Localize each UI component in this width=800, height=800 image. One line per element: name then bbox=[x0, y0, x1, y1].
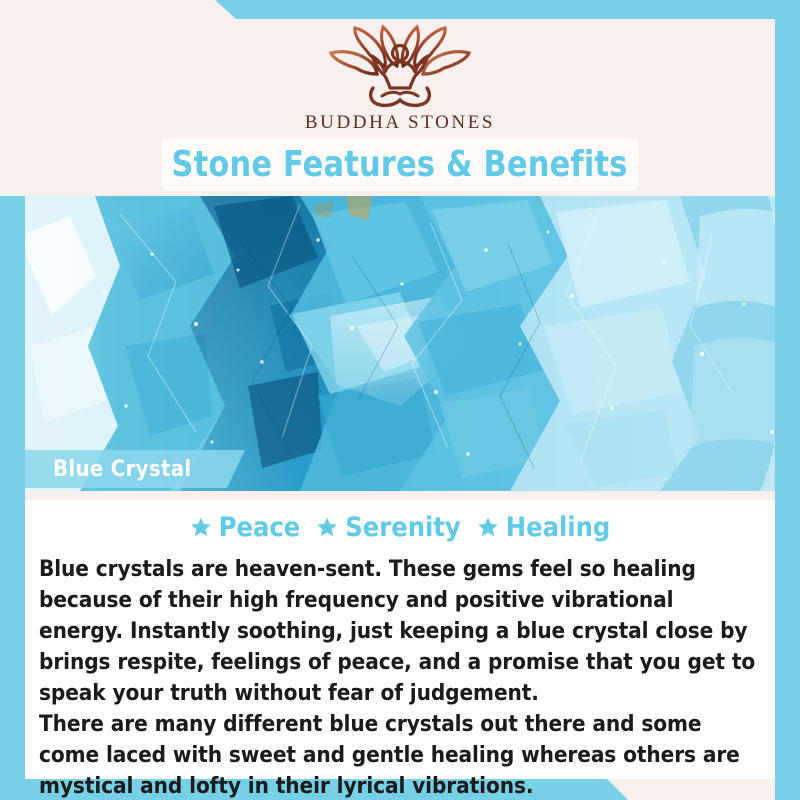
keyword-label: Peace bbox=[219, 514, 301, 541]
keyword-label: Serenity bbox=[345, 514, 461, 541]
page-title: Stone Features & Benefits bbox=[172, 147, 628, 183]
brand-block: BUDDHA STONES bbox=[0, 22, 800, 134]
title-banner: Stone Features & Benefits bbox=[162, 139, 638, 191]
keyword-item-healing: Healing bbox=[477, 514, 611, 541]
star-icon bbox=[316, 516, 338, 538]
star-icon bbox=[190, 516, 212, 538]
description-paragraph-1: Blue crystals are heaven-sent. These gem… bbox=[39, 554, 761, 709]
star-icon bbox=[477, 516, 499, 538]
stone-name-badge: Blue Crystal bbox=[25, 450, 245, 488]
description-paragraph-2: There are many different blue crystals o… bbox=[39, 709, 761, 800]
frame-left-accent bbox=[0, 196, 25, 800]
brand-name: BUDDHA STONES bbox=[0, 112, 800, 134]
keyword-item-peace: Peace bbox=[190, 514, 301, 541]
keyword-list: Peace Serenity Healing bbox=[39, 506, 761, 548]
stone-name-label: Blue Crystal bbox=[25, 457, 191, 482]
hero-image bbox=[0, 196, 800, 491]
lotus-meditation-figure-icon bbox=[325, 22, 475, 110]
description-text: Blue crystals are heaven-sent. These gem… bbox=[39, 554, 761, 800]
keyword-label: Healing bbox=[506, 514, 611, 541]
keyword-item-serenity: Serenity bbox=[316, 514, 461, 541]
poster-root: BUDDHA STONES Stone Features & Benefits bbox=[0, 0, 800, 800]
content-panel: Peace Serenity Healing B bbox=[25, 500, 775, 779]
frame-top-accent bbox=[0, 0, 800, 19]
